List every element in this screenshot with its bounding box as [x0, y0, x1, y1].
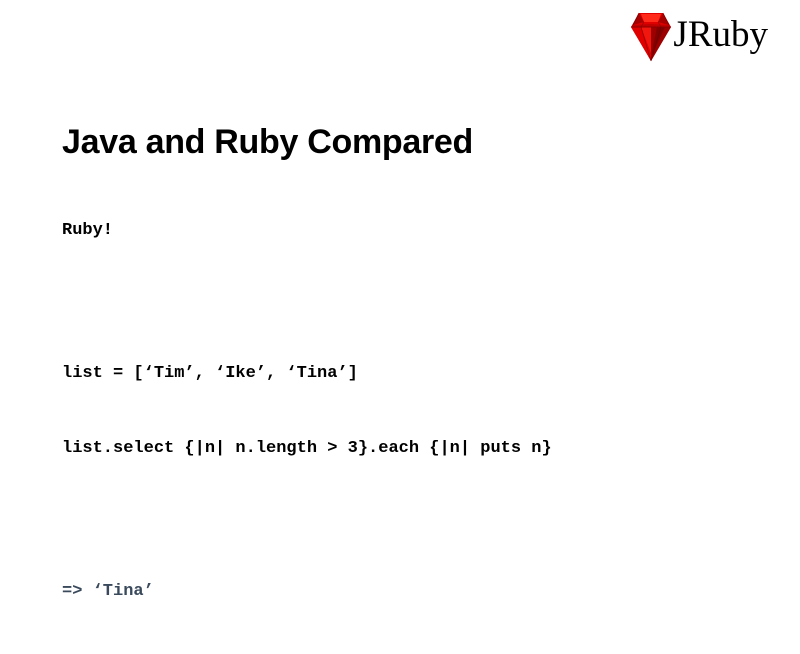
jruby-logo: JRuby	[627, 4, 768, 66]
slide: JRuby Java and Ruby Compared Ruby! list …	[0, 0, 800, 600]
code-spacer-2	[62, 511, 552, 529]
code-heading: Ruby!	[62, 218, 552, 243]
code-line-1: list = [‘Tim’, ‘Ike’, ‘Tina’]	[62, 361, 552, 386]
code-result-line: => ‘Tina’	[62, 579, 552, 604]
page-title: Java and Ruby Compared	[62, 123, 473, 162]
code-block: Ruby! list = [‘Tim’, ‘Ike’, ‘Tina’] list…	[62, 168, 552, 654]
code-line-2: list.select {|n| n.length > 3}.each {|n|…	[62, 436, 552, 461]
jruby-wordmark: JRuby	[673, 16, 768, 53]
jruby-gem-icon	[627, 7, 675, 63]
code-spacer-1	[62, 293, 552, 311]
